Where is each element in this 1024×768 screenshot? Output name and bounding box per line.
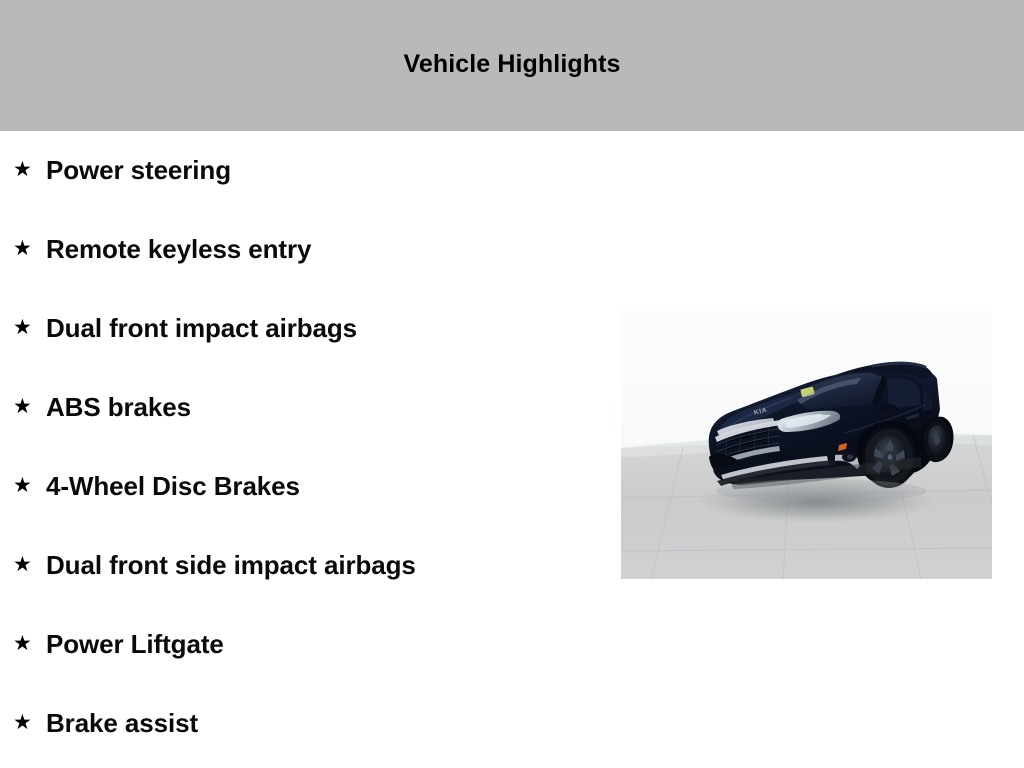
list-item: ★ Power steering — [0, 131, 620, 210]
star-bullet-icon: ★ — [13, 633, 46, 654]
header-band: Vehicle Highlights — [0, 0, 1024, 131]
highlight-label: Power Liftgate — [46, 629, 224, 660]
vehicle-photo: KIA — [621, 305, 992, 579]
page-title: Vehicle Highlights — [403, 52, 620, 77]
star-bullet-icon: ★ — [13, 554, 46, 575]
highlight-label: Power steering — [46, 155, 231, 186]
vehicle-highlights-list: ★ Power steering ★ Remote keyless entry … — [0, 131, 620, 763]
list-item: ★ Remote keyless entry — [0, 210, 620, 289]
vehicle-photo-image: KIA — [621, 305, 992, 579]
highlight-label: 4-Wheel Disc Brakes — [46, 471, 300, 502]
star-bullet-icon: ★ — [13, 159, 46, 180]
star-bullet-icon: ★ — [13, 317, 46, 338]
list-item: ★ 4-Wheel Disc Brakes — [0, 447, 620, 526]
highlight-label: ABS brakes — [46, 392, 191, 423]
star-bullet-icon: ★ — [13, 396, 46, 417]
highlight-label: Dual front side impact airbags — [46, 550, 416, 581]
star-bullet-icon: ★ — [13, 475, 46, 496]
highlight-label: Dual front impact airbags — [46, 313, 357, 344]
list-item: ★ Dual front side impact airbags — [0, 526, 620, 605]
list-item: ★ Brake assist — [0, 684, 620, 763]
star-bullet-icon: ★ — [13, 712, 46, 733]
list-item: ★ Power Liftgate — [0, 605, 620, 684]
highlight-label: Brake assist — [46, 708, 198, 739]
highlight-label: Remote keyless entry — [46, 234, 311, 265]
star-bullet-icon: ★ — [13, 238, 46, 259]
list-item: ★ ABS brakes — [0, 368, 620, 447]
list-item: ★ Dual front impact airbags — [0, 289, 620, 368]
